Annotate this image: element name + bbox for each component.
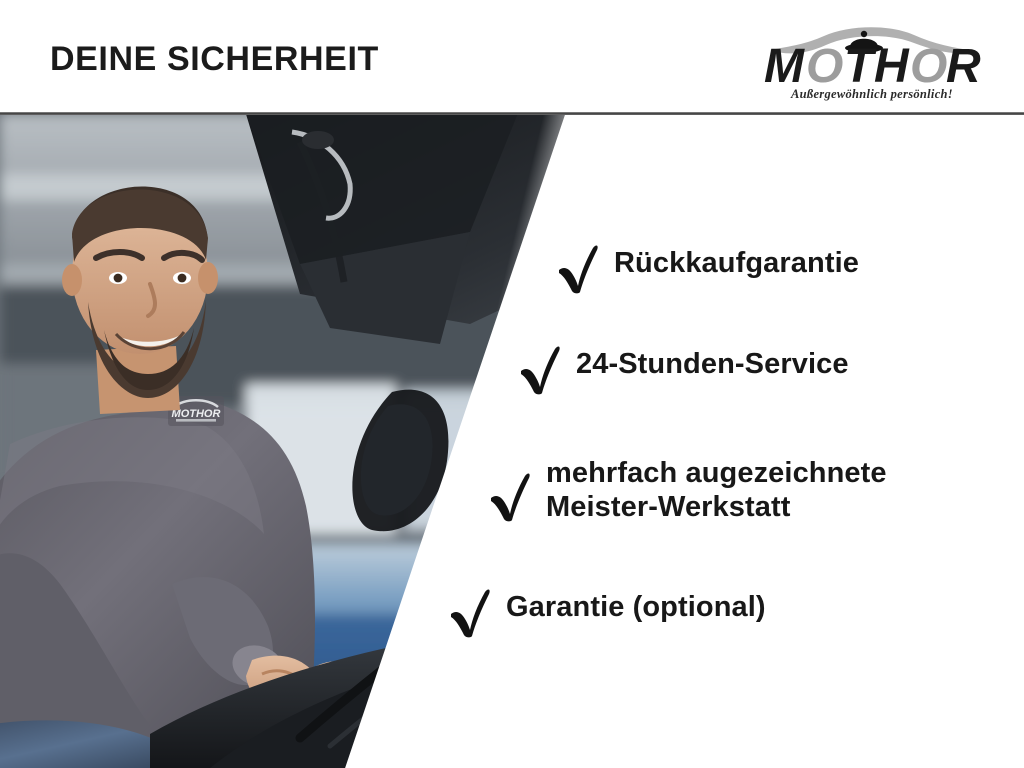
logo-tagline: Außergewöhnlich persönlich!	[790, 87, 953, 101]
list-item: 24-Stunden-Service	[518, 343, 849, 395]
list-item: Garantie (optional)	[448, 586, 766, 638]
list-item-label: mehrfach augezeichnete Meister-Werkstatt	[546, 452, 887, 524]
list-item: Rückkaufgarantie	[556, 242, 859, 294]
logo-letter-t: T	[844, 40, 877, 93]
page-title: DEINE SICHERHEIT	[50, 40, 379, 79]
header-divider	[0, 112, 1024, 115]
list-item-label: Rückkaufgarantie	[614, 242, 859, 280]
list-item-label: 24-Stunden-Service	[576, 343, 849, 381]
slide-root: MOTHOR	[0, 0, 1024, 768]
list-item: mehrfach augezeichnete Meister-Werkstatt	[488, 452, 887, 524]
check-icon	[518, 343, 564, 395]
logo-letter-r: R	[946, 40, 981, 93]
check-icon	[556, 242, 602, 294]
header-bar: DEINE SICHERHEIT M O T H O R	[0, 0, 1024, 114]
check-icon	[448, 586, 494, 638]
logo-letter-m: M	[764, 40, 805, 93]
logo-letter-o1: O	[806, 40, 843, 93]
logo-letter-o2: O	[910, 40, 947, 93]
logo-letter-h: H	[874, 40, 910, 93]
list-item-label: Garantie (optional)	[506, 586, 766, 624]
mothor-logo: M O T H O R Außergewöhnlich persönlich!	[762, 16, 982, 102]
check-icon	[488, 470, 534, 522]
benefits-checklist: Rückkaufgarantie 24-Stunden-Service mehr…	[0, 0, 1024, 768]
